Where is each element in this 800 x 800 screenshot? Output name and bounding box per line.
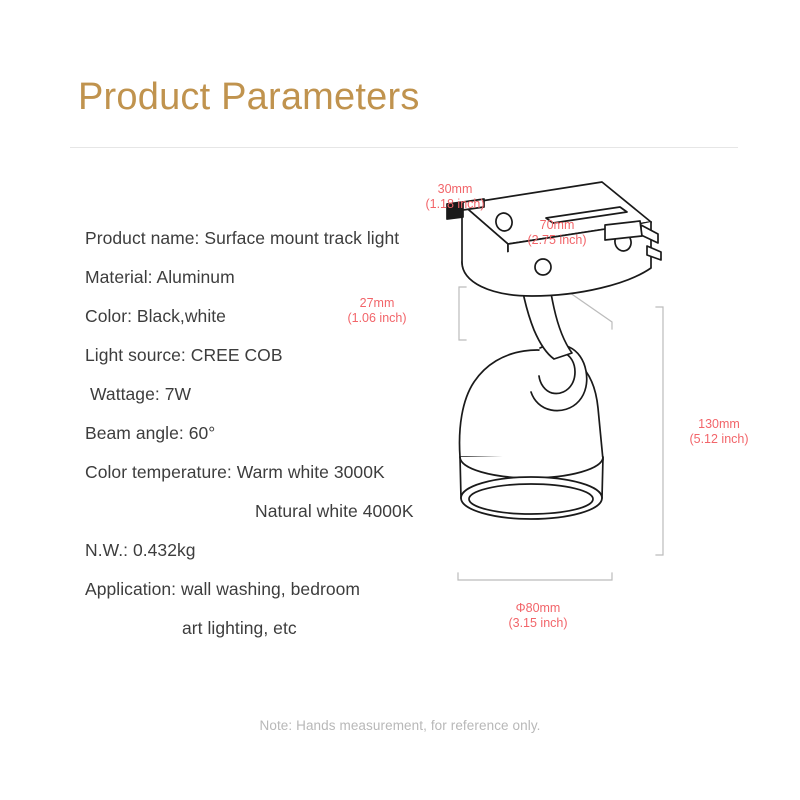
lamp-lens-aperture xyxy=(469,484,593,514)
dimension-inch-80mm: (3.15 inch) xyxy=(498,616,578,631)
spec-line-application-2: art lighting, etc xyxy=(182,620,297,638)
page-title: Product Parameters xyxy=(78,76,420,120)
lamp-ring-top-edge xyxy=(460,457,603,478)
dimension-inch-70mm: (2.75 inch) xyxy=(520,233,594,248)
spec-line-wattage: Wattage: 7W xyxy=(90,386,191,404)
spec-line-light-source: Light source: CREE COB xyxy=(85,347,283,365)
dimension-label-70mm: 70mm (2.75 inch) xyxy=(520,218,594,248)
product-dimension-drawing xyxy=(400,160,800,660)
spec-line-color: Color: Black,white xyxy=(85,308,226,326)
dimension-inch-30mm: (1.18 inch) xyxy=(418,197,492,212)
spec-line-application: Application: wall washing, bedroom xyxy=(85,581,360,599)
product-parameters-page: Product Parameters Product name: Surface… xyxy=(0,0,800,800)
spec-line-color-temperature-2: Natural white 4000K xyxy=(255,503,414,521)
dimension-value-70mm: 70mm xyxy=(520,218,594,233)
title-divider xyxy=(70,147,738,148)
spec-line-net-weight: N.W.: 0.432kg xyxy=(85,542,196,560)
dimension-value-27mm: 27mm xyxy=(340,296,414,311)
dimension-label-80mm: Φ80mm (3.15 inch) xyxy=(498,601,578,631)
dimension-label-130mm: 130mm (5.12 inch) xyxy=(678,417,760,447)
lamp-band-right xyxy=(602,457,603,498)
dimension-label-27mm: 27mm (1.06 inch) xyxy=(340,296,414,326)
dimension-inch-27mm: (1.06 inch) xyxy=(340,311,414,326)
dimension-inch-130mm: (5.12 inch) xyxy=(678,432,760,447)
spec-line-material: Material: Aluminum xyxy=(85,269,235,287)
dimension-bracket-27mm xyxy=(459,287,466,340)
track-adapter-screw-hole-front xyxy=(535,259,551,275)
spec-line-color-temperature: Color temperature: Warm white 3000K xyxy=(85,464,385,482)
track-light-line-drawing xyxy=(400,160,800,660)
track-adapter-right-notch xyxy=(605,221,642,240)
footer-note: Note: Hands measurement, for reference o… xyxy=(0,718,800,733)
dimension-bracket-80mm xyxy=(458,573,612,580)
dimension-bracket-130mm xyxy=(656,307,663,555)
lamp-band-left xyxy=(460,457,461,498)
spec-line-product-name: Product name: Surface mount track light xyxy=(85,230,399,248)
spec-line-beam-angle: Beam angle: 60° xyxy=(85,425,215,443)
dimension-value-80mm: Φ80mm xyxy=(498,601,578,616)
dimension-label-30mm: 30mm (1.18 inch) xyxy=(418,182,492,212)
dimension-value-30mm: 30mm xyxy=(418,182,492,197)
dimension-value-130mm: 130mm xyxy=(678,417,760,432)
